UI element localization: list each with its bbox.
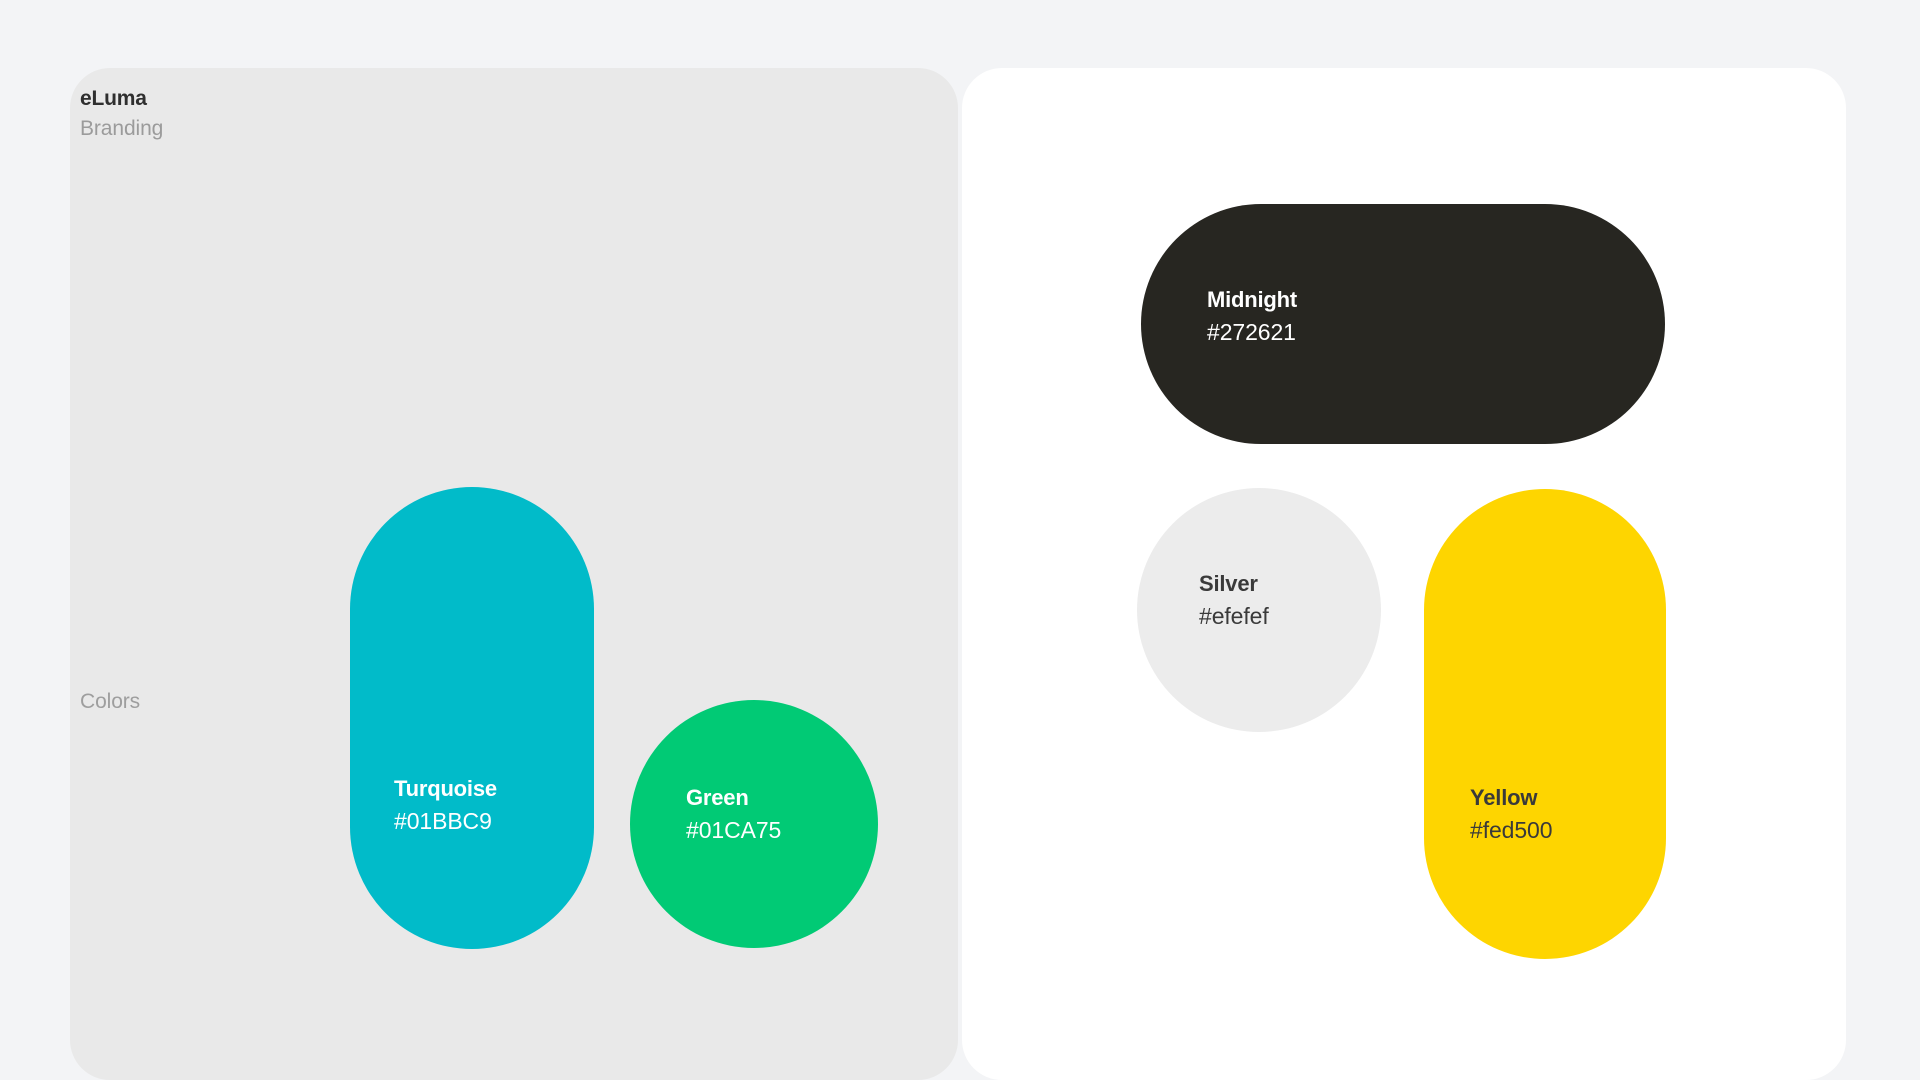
swatch-label-group: Midnight #272621	[1141, 286, 1665, 348]
swatch-hex: #01BBC9	[394, 806, 550, 837]
swatch-label-group: Green #01CA75	[630, 784, 878, 846]
swatch-name: Yellow	[1470, 784, 1620, 813]
section-label-colors: Colors	[80, 690, 140, 714]
color-swatch-turquoise[interactable]: Turquoise #01BBC9	[350, 487, 594, 949]
swatch-hex: #efefef	[1199, 601, 1319, 632]
swatch-name: Turquoise	[394, 775, 550, 804]
color-swatch-midnight[interactable]: Midnight #272621	[1141, 204, 1665, 444]
swatch-name: Silver	[1199, 570, 1319, 599]
swatch-hex: #fed500	[1470, 815, 1620, 846]
swatch-name: Green	[686, 784, 822, 813]
color-swatch-silver[interactable]: Silver #efefef	[1137, 488, 1381, 732]
swatch-hex: #272621	[1207, 317, 1599, 348]
color-swatch-yellow[interactable]: Yellow #fed500	[1424, 489, 1666, 959]
brand-title: eLuma	[80, 86, 163, 112]
brand-header: eLuma Branding	[80, 86, 163, 143]
swatch-name: Midnight	[1207, 286, 1599, 315]
swatch-hex: #01CA75	[686, 815, 822, 846]
swatch-label-group: Yellow #fed500	[1424, 784, 1666, 846]
swatch-label-group: Silver #efefef	[1137, 570, 1381, 632]
swatch-label-group: Turquoise #01BBC9	[350, 775, 594, 837]
brand-subtitle: Branding	[80, 115, 163, 142]
color-swatch-green[interactable]: Green #01CA75	[630, 700, 878, 948]
